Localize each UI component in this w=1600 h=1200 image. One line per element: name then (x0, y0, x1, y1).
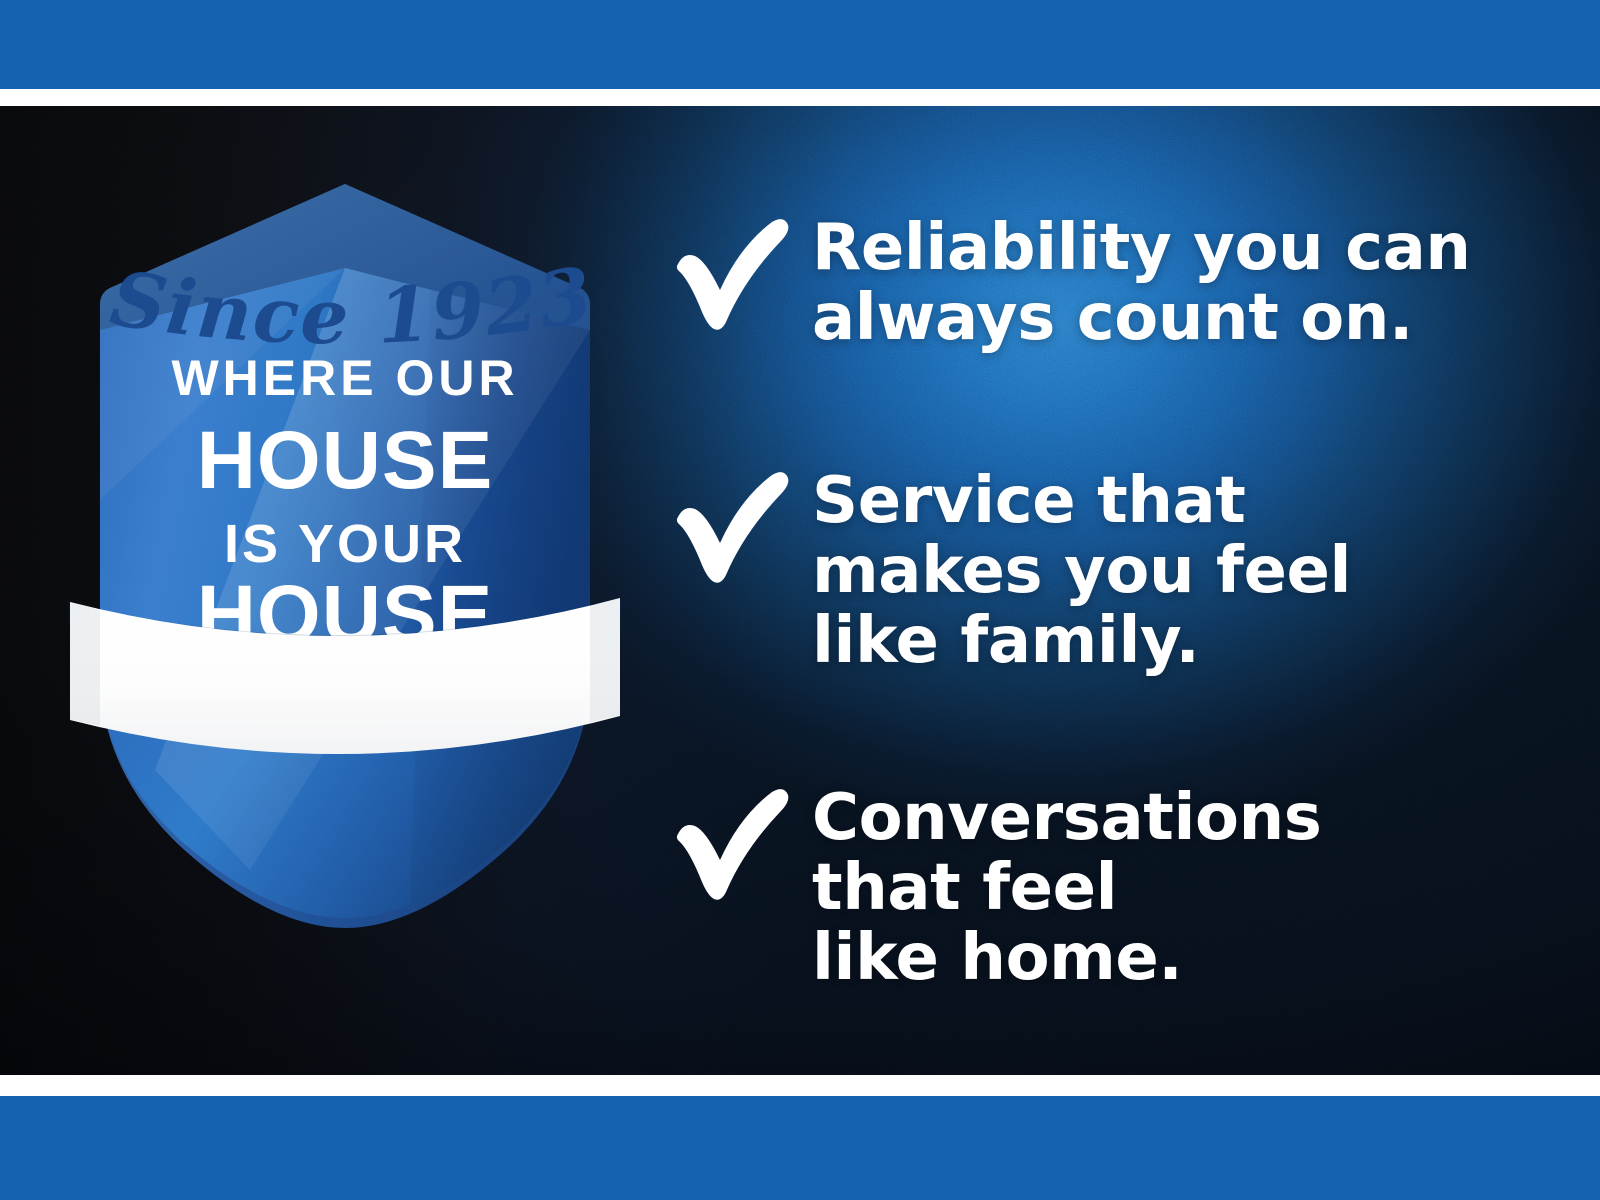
top-white-divider (0, 89, 1600, 106)
ribbon-left-fold (70, 602, 100, 726)
bottom-brand-bar (0, 1096, 1600, 1200)
list-item-label: Conversations that feel like home. (812, 778, 1321, 993)
benefits-list: Reliability you can always count on. Ser… (668, 106, 1548, 1075)
shield-line-3: IS YOUR (224, 514, 466, 574)
list-item-label: Reliability you can always count on. (812, 208, 1471, 354)
list-item: Reliability you can always count on. (668, 208, 1471, 354)
ribbon-right-fold (590, 598, 620, 722)
bottom-white-divider (0, 1075, 1600, 1096)
checkmark-icon (668, 212, 796, 332)
checkmark-icon (668, 465, 796, 585)
shield-line-2: HOUSE (197, 415, 494, 506)
list-item-label: Service that makes you feel like family. (812, 461, 1351, 676)
list-item: Service that makes you feel like family. (668, 461, 1351, 676)
checkmark-icon (668, 782, 796, 902)
shield-badge: WHERE OUR HOUSE IS YOUR HOUSE Since 1923 (60, 170, 630, 930)
promo-graphic: WHERE OUR HOUSE IS YOUR HOUSE Since 1923 (0, 0, 1600, 1200)
list-item: Conversations that feel like home. (668, 778, 1321, 993)
top-brand-bar (0, 0, 1600, 89)
